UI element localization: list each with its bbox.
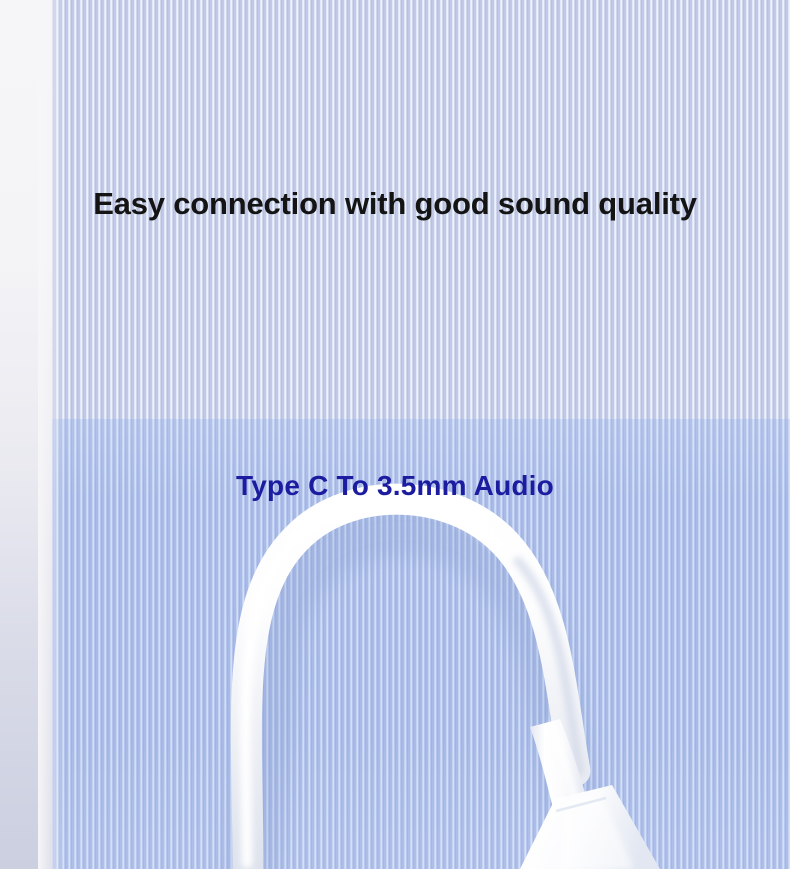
left-edge-gradient	[0, 0, 52, 869]
page-title: Easy connection with good sound quality	[0, 186, 790, 222]
product-subtitle: Type C To 3.5mm Audio	[0, 470, 790, 502]
product-banner: Easy connection with good sound quality …	[0, 0, 790, 869]
